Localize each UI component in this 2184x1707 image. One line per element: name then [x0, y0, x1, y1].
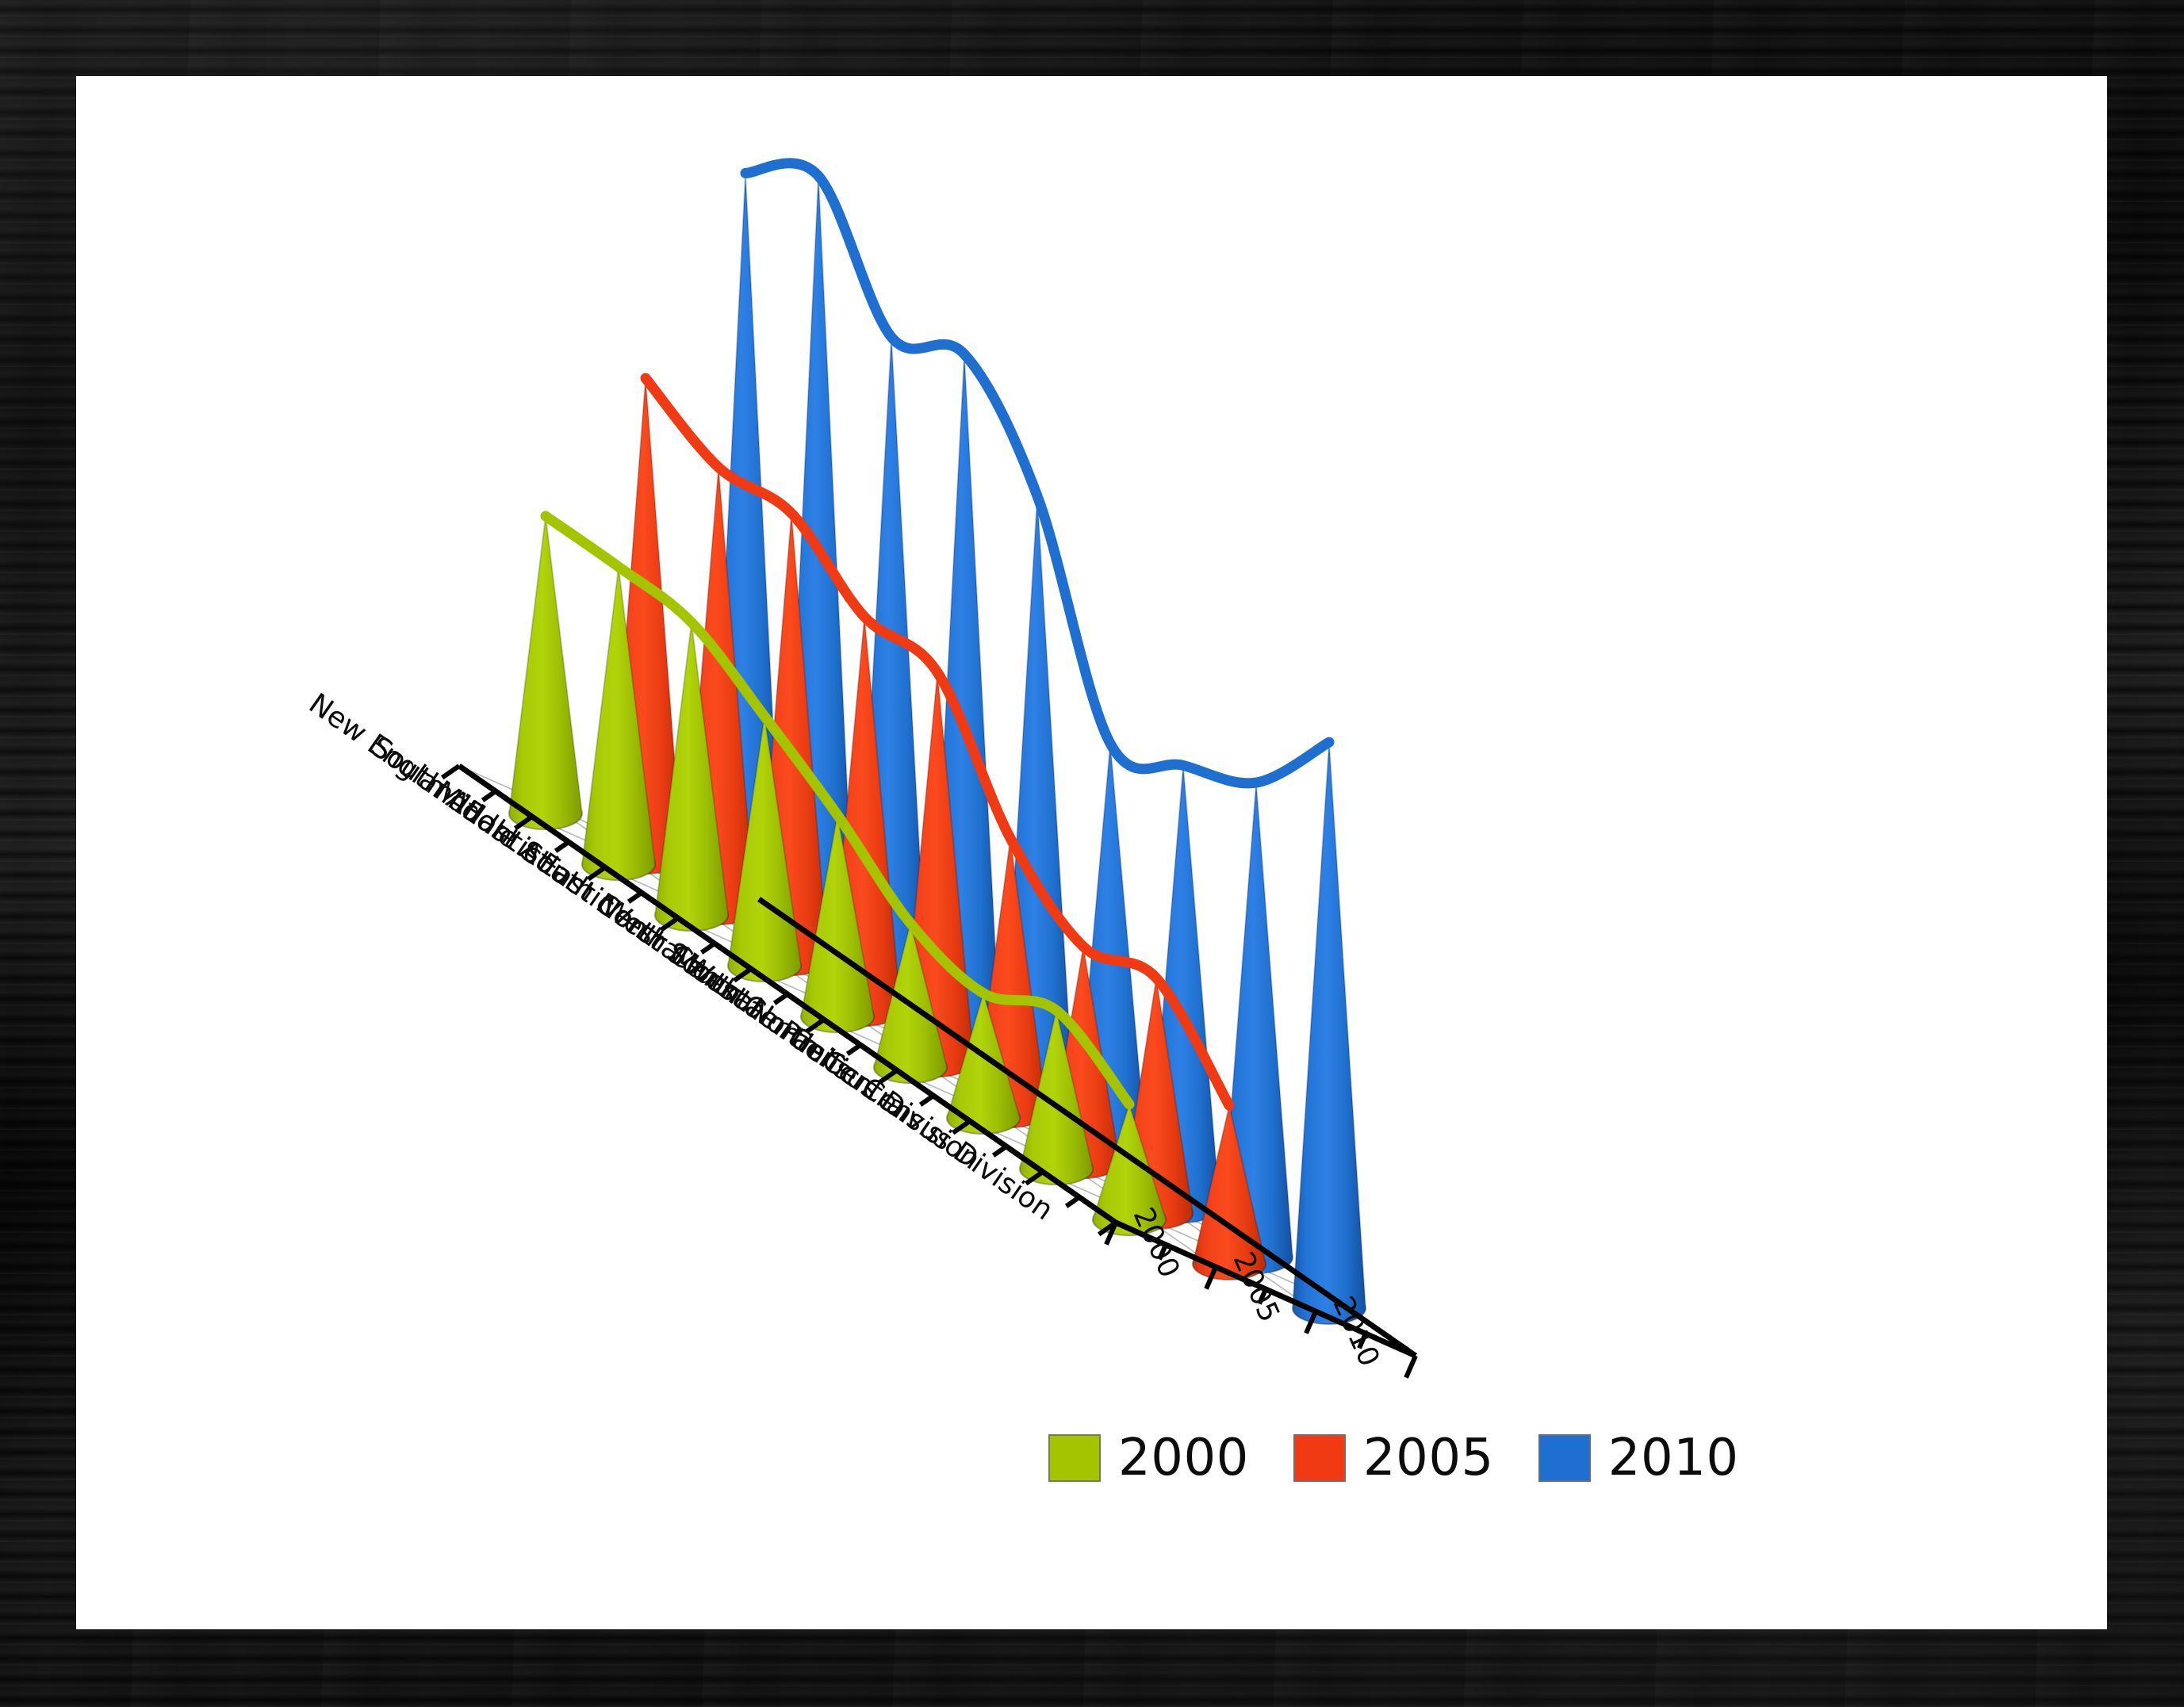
legend-item-2005[interactable]: 2005	[1293, 1429, 1494, 1487]
legend-label-2000: 2000	[1118, 1429, 1249, 1487]
legend-swatch-2005	[1293, 1434, 1346, 1482]
legend-item-2010[interactable]: 2010	[1538, 1429, 1739, 1487]
legend-swatch-2010	[1538, 1434, 1591, 1482]
legend-label-2005: 2005	[1363, 1429, 1494, 1487]
legend-item-2000[interactable]: 2000	[1048, 1429, 1249, 1487]
legend-label-2010: 2010	[1608, 1429, 1739, 1487]
legend-swatch-2000	[1048, 1434, 1101, 1482]
cone-chart-3d: New EnglandSouth AtlanticMiddle Atlantic…	[76, 76, 2107, 1629]
chart-legend: 2000 2005 2010	[1048, 1429, 1739, 1487]
chart-card: New EnglandSouth AtlanticMiddle Atlantic…	[76, 76, 2107, 1629]
